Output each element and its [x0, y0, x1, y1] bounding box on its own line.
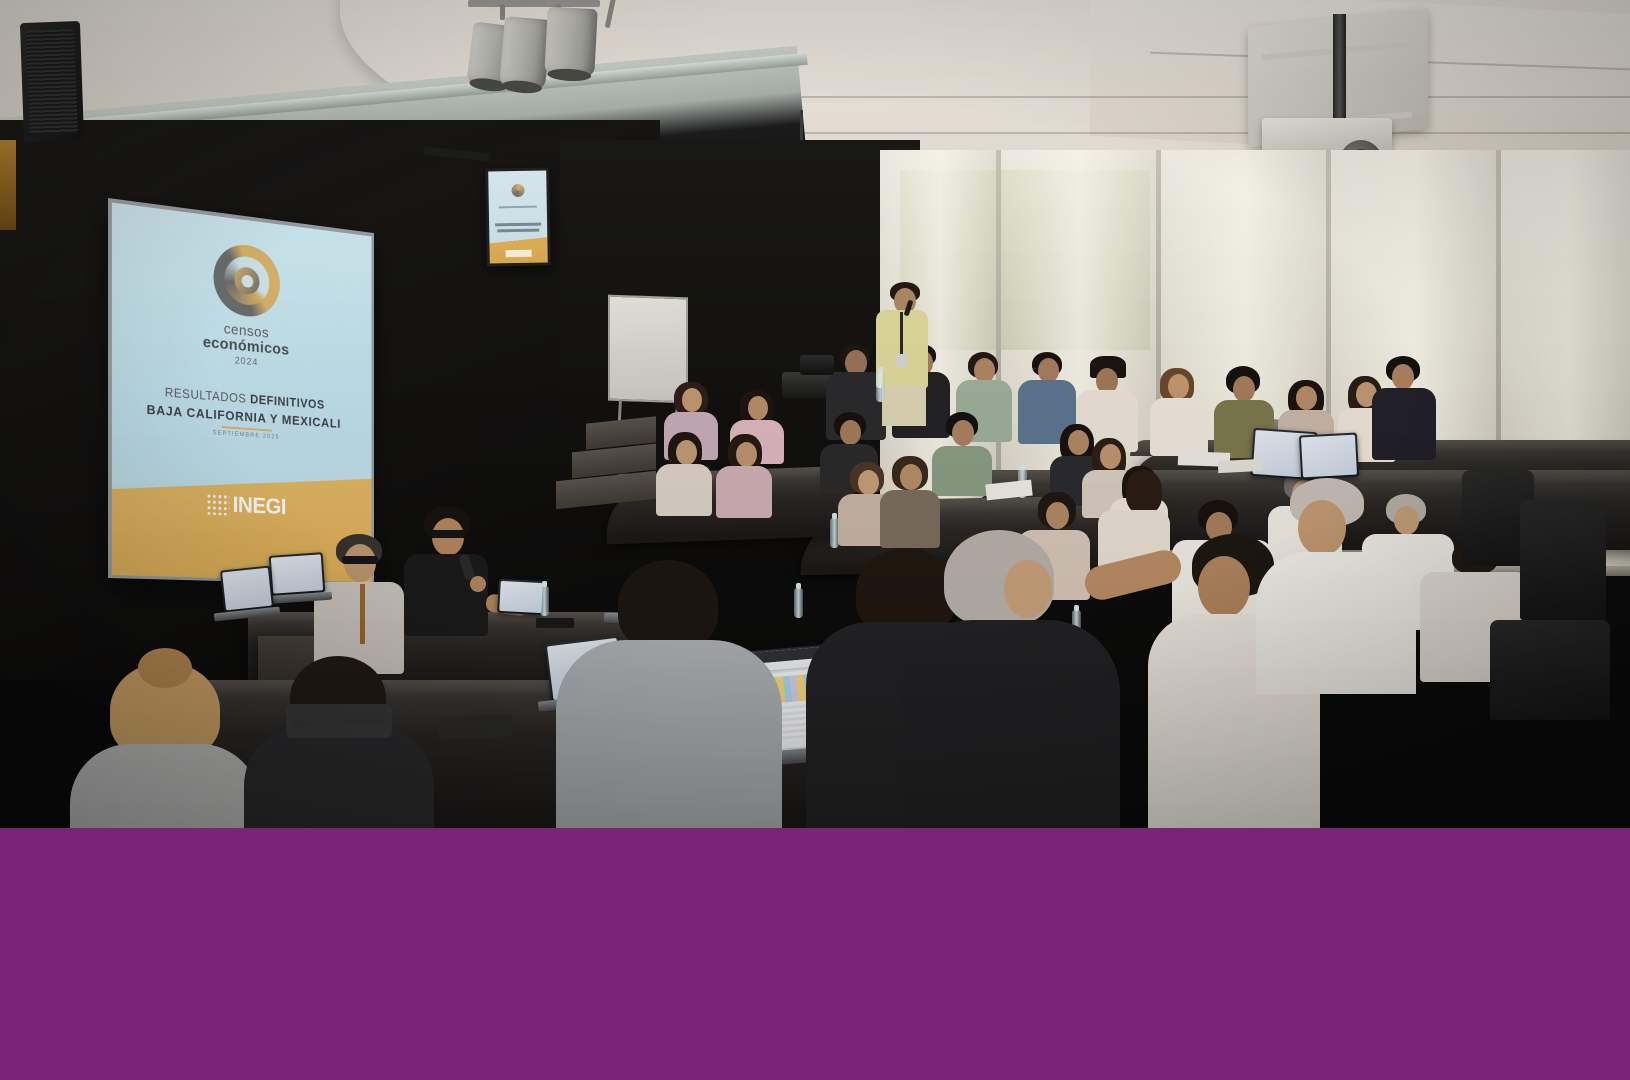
- laptop: [1299, 433, 1359, 480]
- av-camera: [800, 355, 834, 375]
- spotlight-stem: [500, 4, 505, 20]
- spotlight: [544, 7, 597, 78]
- notebook: [437, 714, 512, 740]
- projection-screen-surface: censos económicos 2024 RESULTADOS DEFINI…: [112, 203, 372, 583]
- badge: [896, 354, 907, 368]
- ceiling-seam: [760, 132, 1630, 134]
- inegi-wordmark: INEGI: [233, 492, 287, 520]
- remote-control: [536, 618, 574, 628]
- speaker-grille: [26, 29, 78, 135]
- inegi-logo: INEGI: [206, 490, 286, 520]
- light-track: [468, 0, 600, 7]
- presenter-laptop: [269, 552, 326, 596]
- eyeglasses-icon: [342, 556, 378, 564]
- lanyard: [900, 312, 903, 356]
- monitor-text-line: [495, 222, 541, 226]
- presenter-laptop-screen: [222, 568, 272, 611]
- inegi-dots-icon: [206, 493, 230, 515]
- monitor-footer-logo: [506, 250, 532, 257]
- trousers: [882, 386, 926, 426]
- event-photo: censos económicos 2024 RESULTADOS DEFINI…: [0, 0, 1630, 828]
- presenter-laptop: [497, 579, 545, 615]
- monitor-text-line: [499, 206, 536, 209]
- hand: [470, 576, 486, 592]
- chair: [1520, 500, 1606, 620]
- slide-date: SEPTIEMBRE 2025: [213, 430, 280, 440]
- presenter-laptop-screen: [499, 581, 543, 613]
- water-bottle: [540, 586, 549, 616]
- presenter-laptop-screen: [271, 554, 323, 593]
- monitor-logo-icon: [511, 184, 524, 197]
- slide-heading-bold: DEFINITIVOS: [250, 392, 325, 411]
- presenter-laptop: [220, 566, 274, 613]
- title-banner: Presentación de Resultados de los Censos…: [0, 828, 1630, 1080]
- censos-spiral-logo-icon: [213, 241, 279, 320]
- paper-sheet: [1218, 459, 1263, 473]
- water-bottle: [830, 518, 839, 548]
- eyeglasses-icon: [430, 530, 466, 538]
- monitor-text-line: [497, 229, 539, 233]
- water-bottle: [794, 588, 803, 618]
- poster-page: censos económicos 2024 RESULTADOS DEFINI…: [0, 0, 1630, 1080]
- slide-footer-bar: INEGI: [112, 469, 372, 582]
- spotlight: [499, 16, 551, 90]
- laptop-screen: [1301, 435, 1357, 478]
- chair: [1490, 620, 1610, 720]
- whiteboard: [608, 295, 688, 404]
- cap-brim: [286, 704, 392, 738]
- wall-monitor: [485, 167, 551, 266]
- ceiling-seam: [700, 96, 1630, 98]
- projection-screen: censos económicos 2024 RESULTADOS DEFINI…: [108, 198, 374, 585]
- wall-monitor-screen: [488, 171, 548, 264]
- slide-logo-year: 2024: [235, 355, 259, 368]
- lanyard: [360, 584, 365, 644]
- wall-accent-strip: [0, 140, 16, 230]
- slide-heading-normal: RESULTADOS: [165, 385, 250, 405]
- water-bottle: [876, 372, 885, 402]
- wall-speaker: [20, 21, 84, 143]
